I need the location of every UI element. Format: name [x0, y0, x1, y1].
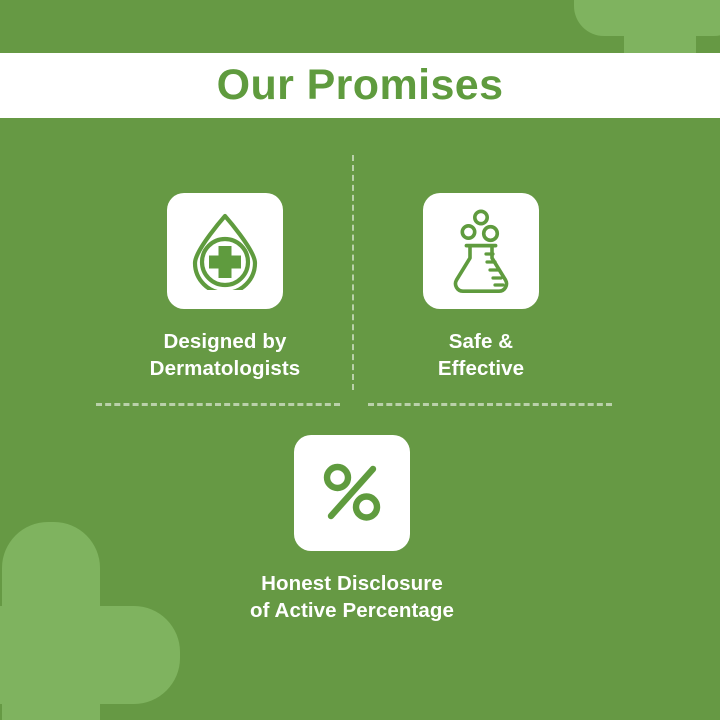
percent-icon — [320, 461, 384, 525]
promise-item-safe-effective: Safe & Effective — [371, 193, 591, 382]
horizontal-dashed-divider-left — [96, 403, 340, 406]
icon-card — [167, 193, 283, 309]
cross-horizontal-arm — [574, 0, 720, 36]
promise-label: Honest Disclosure of Active Percentage — [250, 570, 454, 624]
header-band: Our Promises — [0, 53, 720, 118]
promise-label: Designed by Dermatologists — [150, 328, 301, 382]
promises-content: Designed by Dermatologists Safe & Ef — [0, 118, 720, 720]
promise-label: Safe & Effective — [438, 328, 524, 382]
promises-poster: Our Promises Designed by Dermatologists — [0, 0, 720, 720]
horizontal-dashed-divider-right — [368, 403, 612, 406]
page-title: Our Promises — [217, 64, 504, 107]
promise-item-honest-disclosure: Honest Disclosure of Active Percentage — [232, 435, 472, 624]
promise-item-dermatologists: Designed by Dermatologists — [105, 193, 345, 382]
icon-card — [294, 435, 410, 551]
lab-flask-icon — [446, 209, 516, 293]
vertical-dashed-divider — [352, 155, 354, 390]
droplet-plus-icon — [187, 212, 263, 290]
icon-card — [423, 193, 539, 309]
